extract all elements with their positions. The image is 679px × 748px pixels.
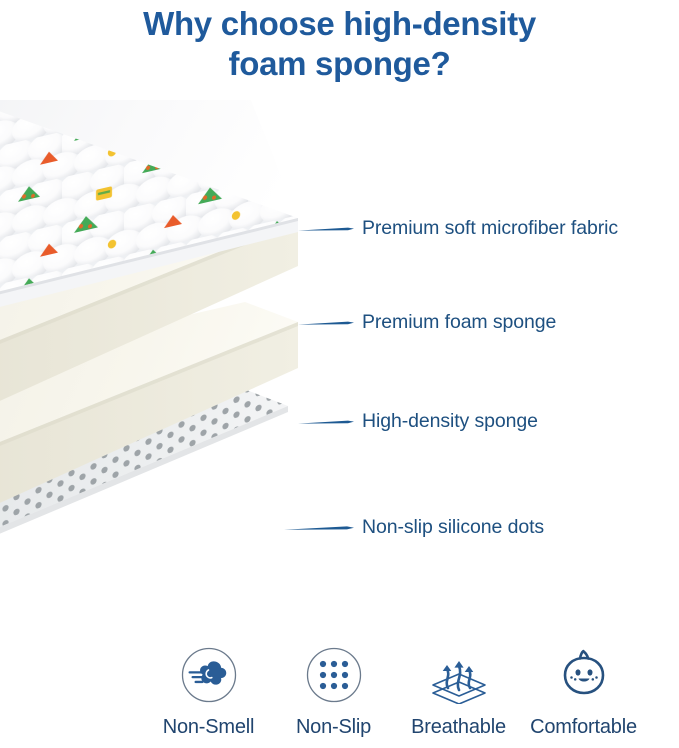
leader-line-icon [284,522,354,534]
feature-non-smell[interactable]: Non-Smell [146,644,271,739]
feature-non-slip[interactable]: Non-Slip [271,644,396,739]
exploded-mattress-illustration [0,100,360,645]
airflow-layers-icon [428,644,490,706]
page-title-line-2: foam sponge? [0,44,679,84]
callout-non-slip-silicone-dots: Non-slip silicone dots [284,515,544,541]
feature-label: Comfortable [530,716,637,739]
feature-badges-row: Non-Smell Non-Slip [0,644,679,748]
dot-grid-circle-icon [305,644,363,706]
feature-label: Non-Slip [296,716,371,739]
feature-breathable[interactable]: Breathable [396,644,521,739]
odor-cloud-with-wind-lines-icon [180,644,238,706]
callout-label: Non-slip silicone dots [362,518,544,538]
callout-label: Premium foam sponge [362,313,556,333]
leader-line-icon [298,317,354,329]
feature-label: Breathable [411,716,506,739]
feature-label: Non-Smell [163,716,255,739]
leader-line-icon [298,416,354,428]
callout-premium-soft-microfiber-fabric: Premium soft microfiber fabric [298,216,618,242]
page-title: Why choose high-density foam sponge? [0,4,679,85]
infographic-page: Why choose high-density foam sponge? [0,0,679,748]
page-title-line-1: Why choose high-density [0,4,679,44]
callout-label: High-density sponge [362,412,538,432]
mattress-layers-svg [0,100,360,645]
feature-comfortable[interactable]: Comfortable [521,644,646,739]
callout-high-density-sponge: High-density sponge [298,409,538,435]
leader-line-icon [298,223,354,235]
callout-premium-foam-sponge: Premium foam sponge [298,310,556,336]
baby-face-icon [554,644,614,706]
callout-label: Premium soft microfiber fabric [362,219,618,239]
